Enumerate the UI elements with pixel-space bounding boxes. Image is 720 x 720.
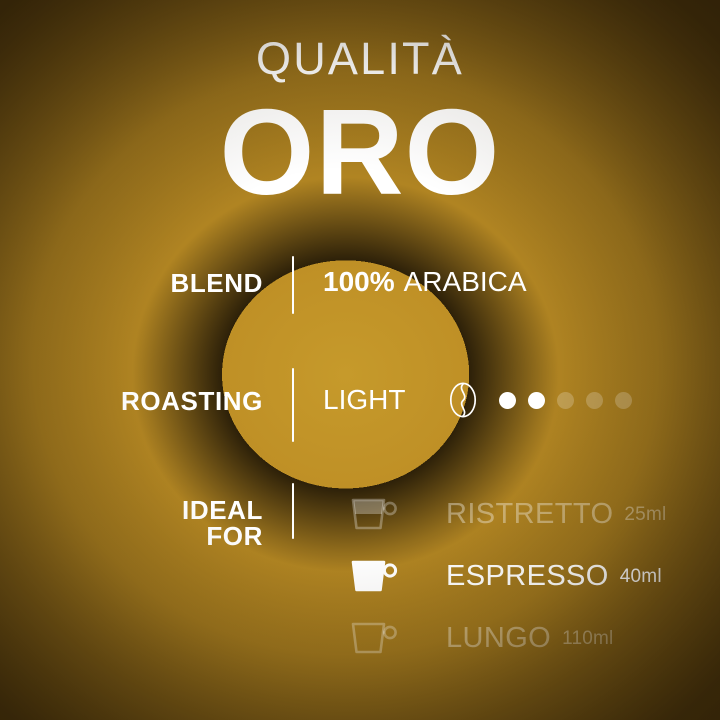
title-block: QUALITÀ ORO (0, 36, 720, 213)
ideal-for-item-lungo: LUNGO 110ml (350, 607, 666, 669)
roast-intensity-meter (449, 382, 632, 418)
spec-label-ideal-for: IDEAL FOR (120, 483, 292, 549)
spec-label-blend: BLEND (120, 256, 292, 296)
ristretto-cup-wrap (350, 495, 408, 533)
spec-row-roasting: ROASTING LIGHT (120, 368, 632, 442)
ideal-for-name: ESPRESSO (446, 562, 609, 591)
blend-percentage: 100% (323, 268, 395, 296)
ideal-for-item-espresso: ESPRESSO 40ml (350, 545, 666, 607)
ideal-for-list: RISTRETTO 25ml ESPRESSO 40ml (350, 483, 666, 669)
intensity-dot-2 (528, 392, 545, 409)
ideal-for-name: RISTRETTO (446, 500, 613, 529)
intensity-dot-4 (586, 392, 603, 409)
cup-icon (350, 495, 398, 533)
ideal-for-volume: 25ml (624, 505, 666, 524)
spec-value-blend: 100% ARABICA (294, 256, 527, 296)
spec-row-ideal-for: IDEAL FOR (120, 483, 294, 549)
ideal-for-item-ristretto: RISTRETTO 25ml (350, 483, 666, 545)
intensity-dot-3 (557, 392, 574, 409)
product-infographic: QUALITÀ ORO BLEND 100% ARABICA ROASTING … (0, 0, 720, 720)
spec-value-roasting: LIGHT (294, 368, 632, 418)
product-line-name: QUALITÀ (0, 36, 720, 81)
spec-divider-ideal-for (292, 483, 294, 539)
ideal-for-volume: 40ml (620, 567, 662, 586)
intensity-dot-5 (615, 392, 632, 409)
cup-icon (350, 619, 398, 657)
cup-icon (350, 557, 398, 595)
intensity-dot-1 (499, 392, 516, 409)
coffee-bean-icon (449, 382, 477, 418)
lungo-cup-wrap (350, 619, 408, 657)
roast-level-text: LIGHT (323, 386, 405, 414)
intensity-dots (499, 392, 632, 409)
ideal-for-name: LUNGO (446, 624, 551, 653)
ideal-for-volume: 110ml (562, 629, 613, 648)
spec-label-roasting: ROASTING (120, 368, 292, 414)
espresso-cup-wrap (350, 557, 408, 595)
product-title: ORO (0, 91, 720, 213)
blend-bean-type: ARABICA (404, 268, 527, 296)
spec-row-blend: BLEND 100% ARABICA (120, 256, 527, 314)
